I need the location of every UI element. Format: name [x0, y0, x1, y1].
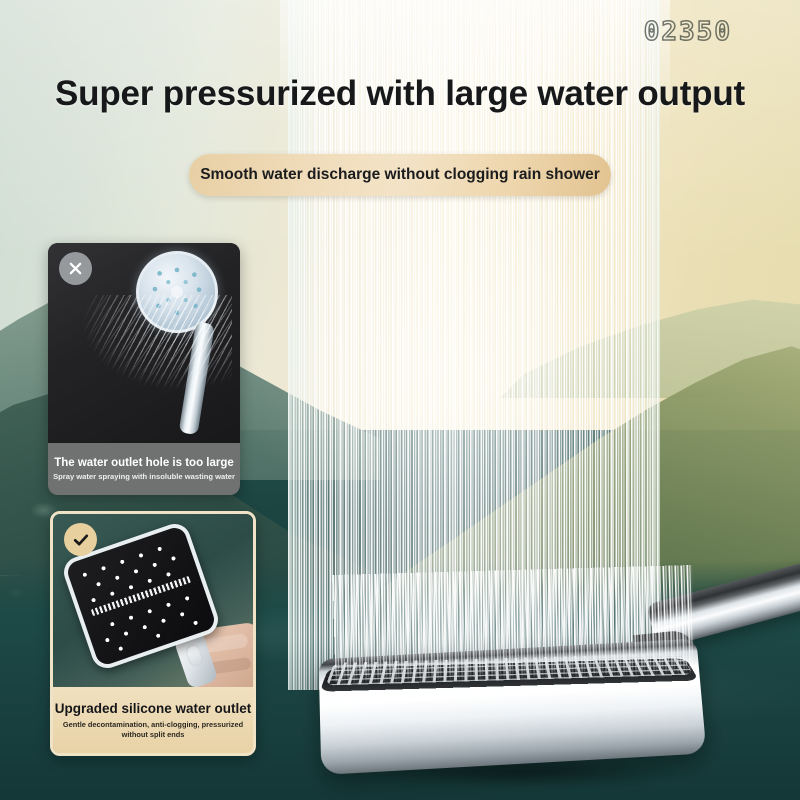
- spray-haze: [255, 120, 695, 640]
- comparison-caption-block-negative: The water outlet hole is too large Spray…: [48, 443, 240, 495]
- page-title: Super pressurized with large water outpu…: [0, 74, 800, 114]
- check-icon: [64, 523, 97, 556]
- comparison-caption-negative: The water outlet hole is too large: [54, 457, 234, 469]
- comparison-subcaption-positive: Gentle decontamination, anti-clogging, p…: [59, 720, 247, 739]
- coarse-spray-graphic: [48, 295, 232, 443]
- comparison-subcaption-negative: Spray water spraying with insoluble wast…: [53, 472, 235, 481]
- hero-product: [300, 610, 800, 800]
- comparison-caption-positive: Upgraded silicone water outlet: [55, 701, 252, 716]
- product-banner: 02350 Super pressurized with large water…: [0, 0, 800, 800]
- subtitle-pill-label: Smooth water discharge without clogging …: [200, 166, 600, 184]
- cross-icon: [59, 252, 92, 285]
- comparison-caption-block-positive: Upgraded silicone water outlet Gentle de…: [53, 687, 253, 753]
- comparison-card-positive[interactable]: Upgraded silicone water outlet Gentle de…: [50, 511, 256, 756]
- hero-product-spray: [333, 565, 696, 685]
- watermark-code: 02350: [644, 17, 732, 47]
- subtitle-pill: Smooth water discharge without clogging …: [189, 154, 611, 196]
- comparison-card-negative[interactable]: The water outlet hole is too large Spray…: [48, 243, 240, 495]
